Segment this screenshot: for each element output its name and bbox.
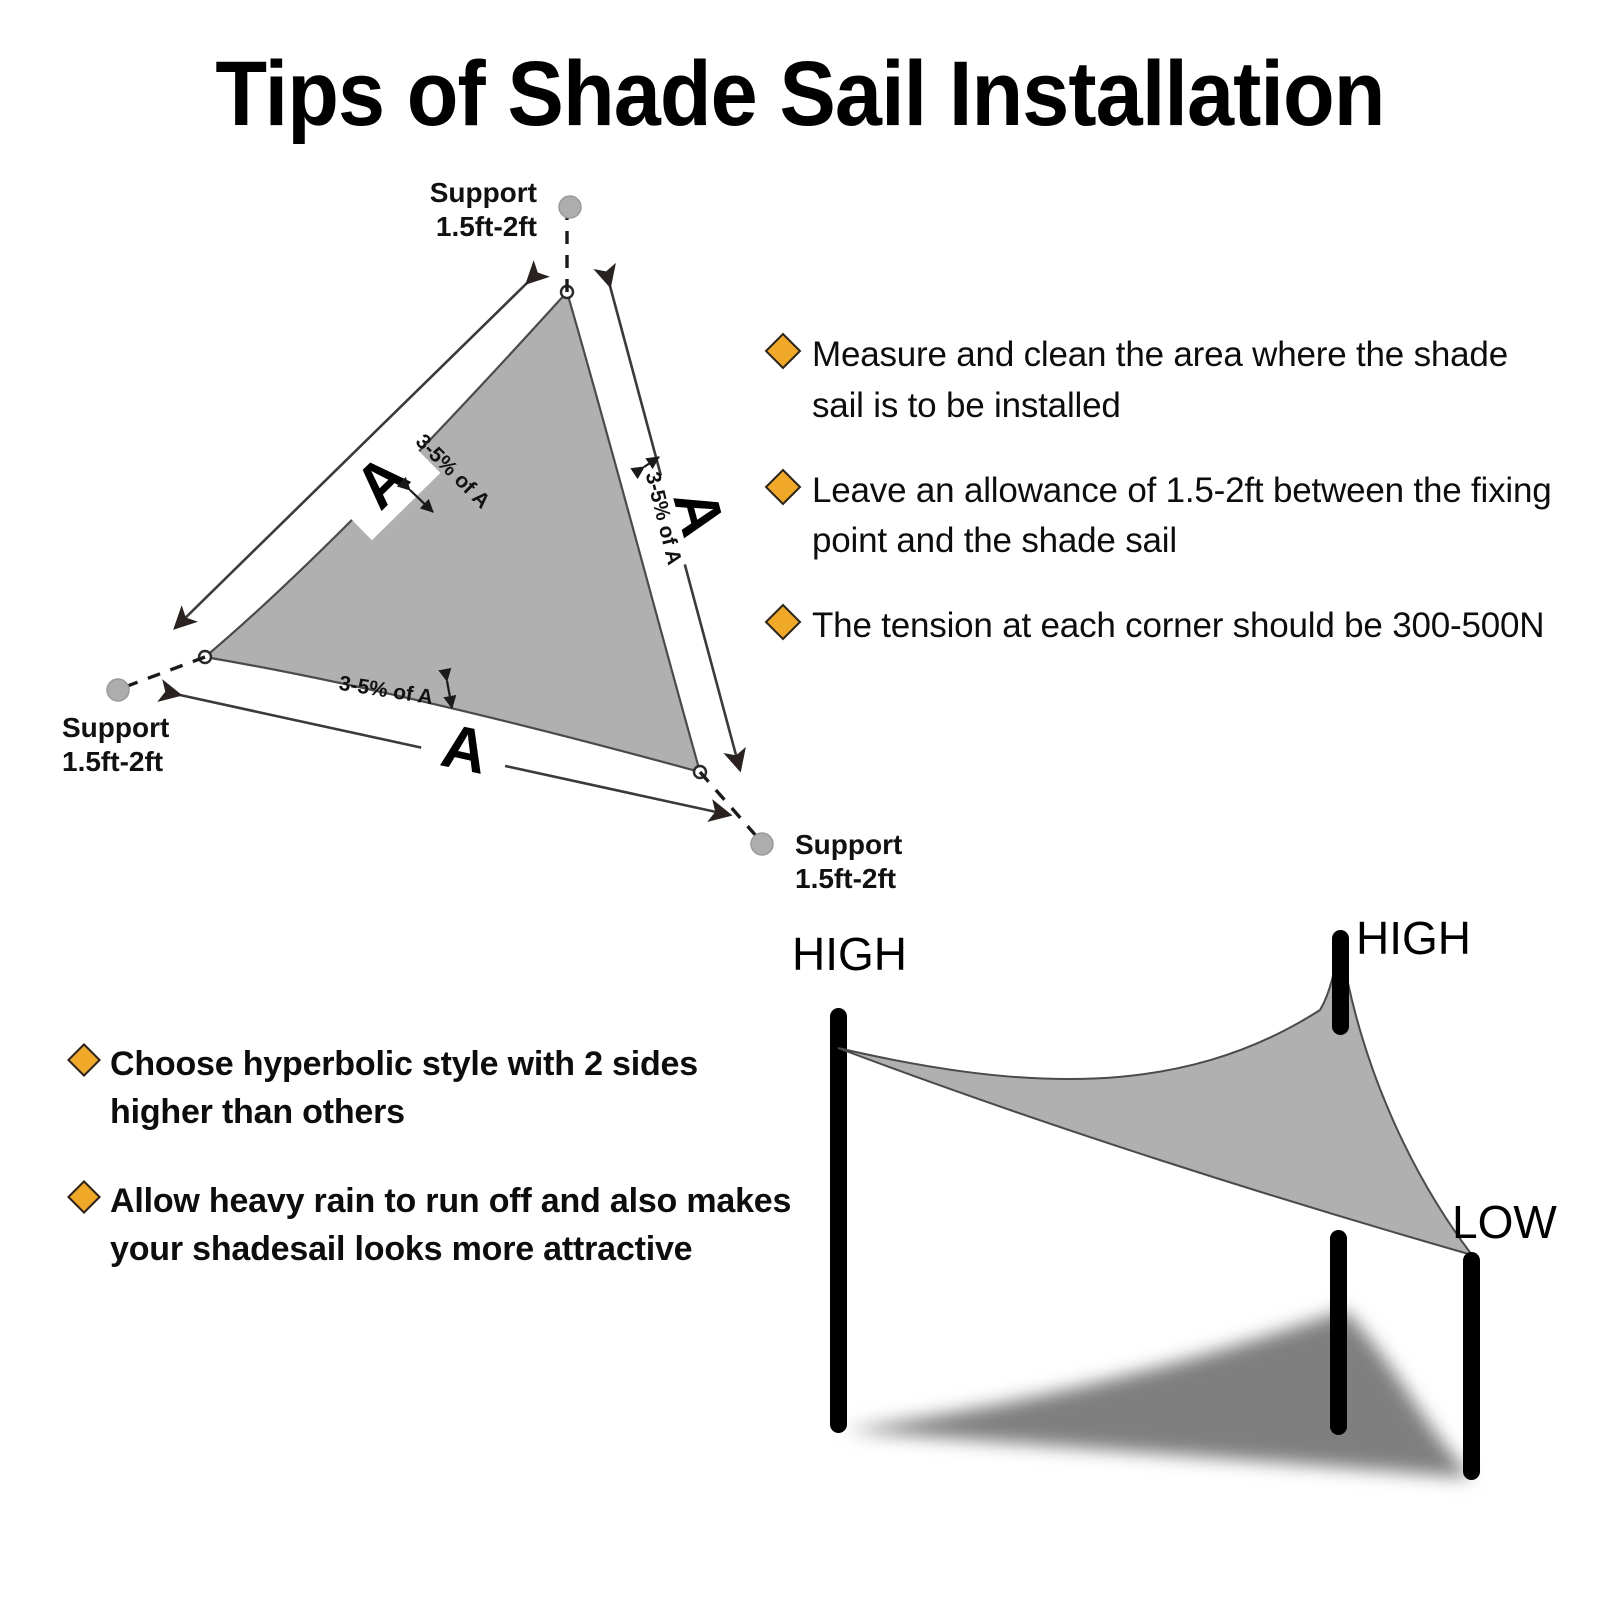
dashed-line-left <box>122 657 205 688</box>
support-label-top-line1: Support <box>430 177 537 208</box>
page-title: Tips of Shade Sail Installation <box>64 48 1536 140</box>
tip-text: Leave an allowance of 1.5-2ft between th… <box>812 466 1560 568</box>
tips-list-top: Measure and clean the area where the sha… <box>770 330 1560 652</box>
tip-text: Allow heavy rain to run off and also mak… <box>110 1177 792 1274</box>
tip-text: Measure and clean the area where the sha… <box>812 330 1560 432</box>
diamond-bullet-icon <box>765 604 802 641</box>
hyperbolic-sail-diagram: HIGH HIGH LOW <box>760 900 1600 1540</box>
label-high-right: HIGH <box>1356 912 1471 964</box>
tip-item: Measure and clean the area where the sha… <box>770 330 1560 432</box>
diamond-bullet-icon <box>67 1043 101 1077</box>
support-label-bottom-line1: Support <box>795 829 902 860</box>
sail-ground-shadow <box>845 1310 1472 1478</box>
tip-item: Leave an allowance of 1.5-2ft between th… <box>770 466 1560 568</box>
post-high-left <box>830 1008 847 1433</box>
label-high-left: HIGH <box>792 928 907 980</box>
tip-text: Choose hyperbolic style with 2 sides hig… <box>110 1040 792 1137</box>
tip-item: Choose hyperbolic style with 2 sides hig… <box>72 1040 792 1137</box>
post-high-right <box>1332 930 1349 1035</box>
hyperbolic-sail-shape <box>838 940 1472 1255</box>
dashed-line-bottom <box>700 772 758 838</box>
post-low <box>1463 1252 1480 1480</box>
support-dot-left <box>107 679 129 701</box>
post-middle <box>1330 1230 1347 1435</box>
diamond-bullet-icon <box>765 333 802 370</box>
shade-sail-triangle-shape <box>205 292 700 772</box>
support-dot-top <box>559 196 581 218</box>
support-label-bottom-line2: 1.5ft-2ft <box>795 863 896 894</box>
diamond-bullet-icon <box>67 1180 101 1214</box>
support-label-left-line2: 1.5ft-2ft <box>62 746 163 777</box>
diamond-bullet-icon <box>765 468 802 505</box>
tip-item: The tension at each corner should be 300… <box>770 601 1560 652</box>
support-label-left-line1: Support <box>62 712 169 743</box>
support-dot-bottom <box>751 833 773 855</box>
label-low: LOW <box>1452 1196 1557 1248</box>
tip-item: Allow heavy rain to run off and also mak… <box>72 1177 792 1274</box>
support-label-top-line2: 1.5ft-2ft <box>436 211 537 242</box>
tip-text: The tension at each corner should be 300… <box>812 601 1544 652</box>
tips-list-bottom: Choose hyperbolic style with 2 sides hig… <box>72 1040 792 1313</box>
